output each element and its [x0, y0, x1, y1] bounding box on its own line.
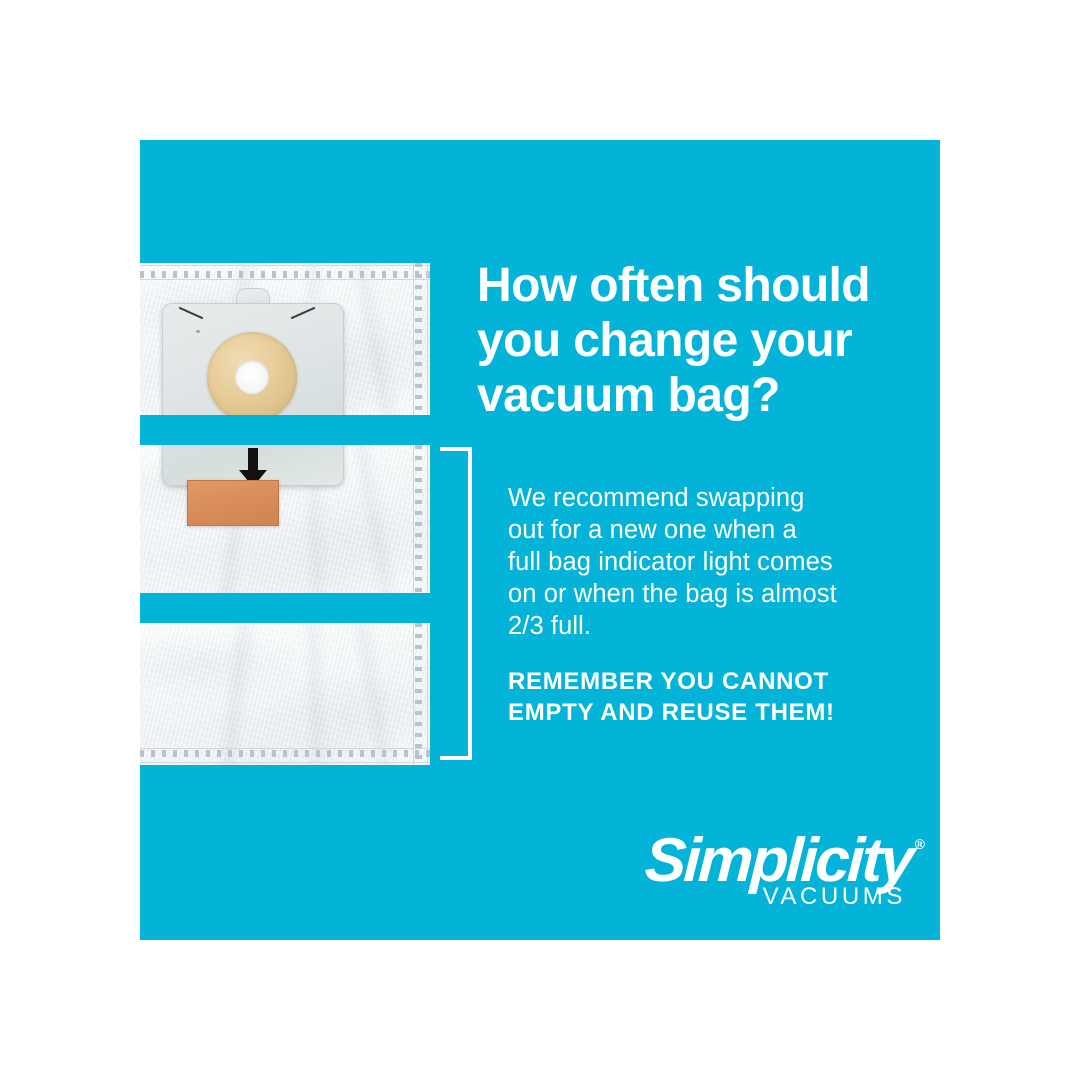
seam-right-line-2	[413, 263, 414, 415]
range-bracket	[440, 447, 472, 760]
bag-bottom-panel	[140, 623, 430, 765]
seam-right-line	[427, 445, 428, 593]
body-paragraph: We recommend swapping out for a new one …	[508, 482, 918, 642]
registered-trademark-icon: ®	[915, 836, 925, 852]
seam-bottom-line	[140, 762, 430, 763]
seam-bottom-line-2	[140, 748, 430, 749]
collar-speck	[196, 330, 200, 333]
brand-logo: Simplicity® VACUUMS	[627, 830, 912, 910]
page-title: How often should you change your vacuum …	[477, 258, 907, 423]
seam-right-line-2	[413, 445, 414, 593]
callout-warning: REMEMBER YOU CANNOT EMPTY AND REUSE THEM…	[508, 666, 918, 728]
orange-adhesive-tab	[187, 480, 279, 526]
brand-wordmark: Simplicity	[644, 830, 914, 892]
seam-top-line	[140, 265, 430, 266]
seam-top-line-2	[140, 279, 430, 280]
bag-collar-hole	[235, 360, 269, 394]
seam-right-line	[427, 623, 428, 765]
infographic-canvas: How often should you change your vacuum …	[0, 0, 1080, 1080]
cyan-content-card: How often should you change your vacuum …	[140, 140, 940, 940]
fabric-wrinkles	[140, 623, 430, 765]
seam-right-line	[427, 263, 428, 415]
seam-right-line-2	[413, 623, 414, 765]
